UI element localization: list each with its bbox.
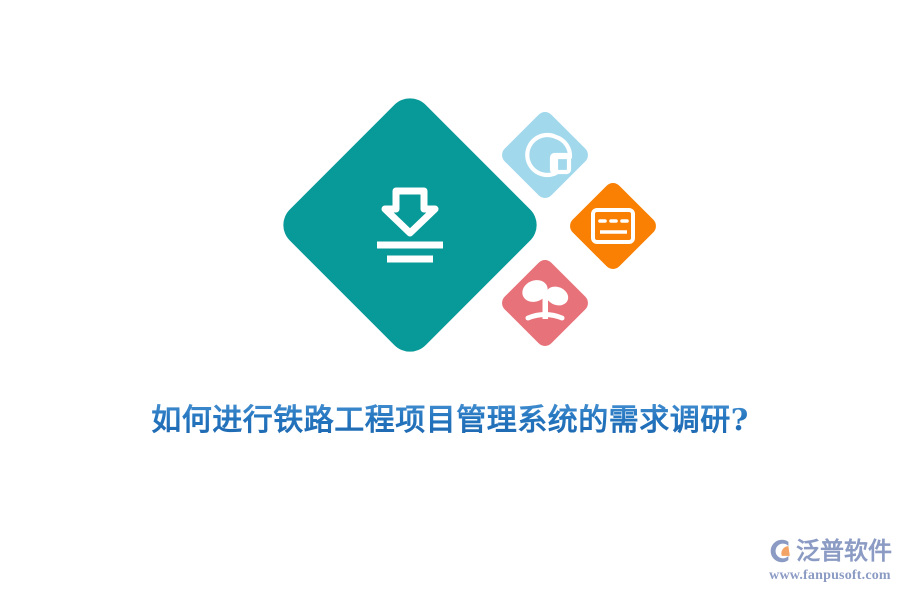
diamond-tile-pie-chart [498,108,591,201]
diamond-shape-lightblue [498,108,591,201]
download-icon [377,191,443,259]
diamond-tile-download [274,89,546,361]
pie-chart-icon [527,135,570,175]
fanpu-logo-icon [766,537,794,565]
seedling-icon [519,276,571,319]
watermark-url: www.fanpusoft.com [766,567,894,585]
diamond-tile-seedling [498,256,591,349]
card-icon [593,210,633,242]
hero-graphic [0,0,900,600]
diamond-shape-pink [498,256,591,349]
diamond-tile-card [566,179,659,272]
page-title: 如何进行铁路工程项目管理系统的需求调研? [0,399,900,443]
diamond-shape-teal [274,89,546,361]
watermark-brand-name: 泛普软件 [796,537,892,565]
watermark-brand-row: 泛普软件 [766,536,894,566]
watermark-logo: 泛普软件 www.fanpusoft.com [766,536,894,586]
diamond-shape-orange [566,179,659,272]
